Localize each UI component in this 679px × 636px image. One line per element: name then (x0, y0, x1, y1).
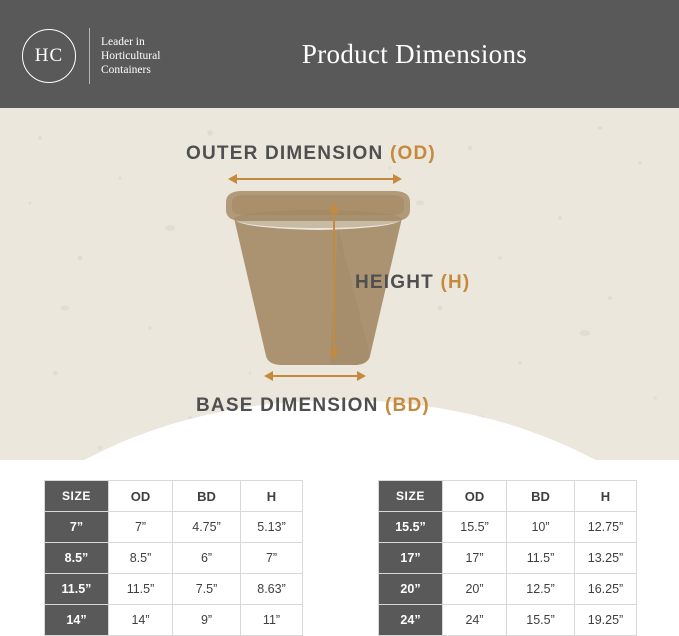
page-title: Product Dimensions (0, 0, 679, 108)
base-dimension-text: BASE DIMENSION (196, 395, 385, 416)
table-header-row: SIZE OD BD H (379, 481, 637, 512)
cell-bd: 9” (173, 605, 241, 636)
cell-bd: 7.5” (173, 574, 241, 605)
height-arrow (333, 211, 335, 351)
cell-bd: 6” (173, 543, 241, 574)
base-dimension-abbrev: (BD) (385, 395, 430, 416)
cell-od: 11.5” (109, 574, 173, 605)
cell-od: 20” (443, 574, 507, 605)
cell-size: 15.5” (379, 512, 443, 543)
col-header-od: OD (109, 481, 173, 512)
outer-dimension-abbrev: (OD) (390, 143, 436, 164)
table-row: 17” 17” 11.5” 13.25” (379, 543, 637, 574)
page-header: HC Leader in Horticultural Containers Pr… (0, 0, 679, 108)
col-header-bd: BD (173, 481, 241, 512)
col-header-h: H (575, 481, 637, 512)
cell-h: 19.25” (575, 605, 637, 636)
table-row: 8.5” 8.5” 6” 7” (45, 543, 303, 574)
dimension-tables: SIZE OD BD H 7” 7” 4.75” 5.13” 8.5” 8.5”… (0, 460, 679, 636)
diagram-panel: OUTER DIMENSION (OD) BASE DIMENSION (BD)… (0, 108, 679, 460)
table-row: 14” 14” 9” 11” (45, 605, 303, 636)
dimension-table-left: SIZE OD BD H 7” 7” 4.75” 5.13” 8.5” 8.5”… (44, 480, 303, 636)
cell-od: 8.5” (109, 543, 173, 574)
table-row: 15.5” 15.5” 10” 12.75” (379, 512, 637, 543)
table-row: 24” 24” 15.5” 19.25” (379, 605, 637, 636)
height-text: HEIGHT (355, 272, 440, 293)
cell-bd: 15.5” (507, 605, 575, 636)
cell-size: 20” (379, 574, 443, 605)
table-row: 20” 20” 12.5” 16.25” (379, 574, 637, 605)
cell-size: 11.5” (45, 574, 109, 605)
outer-dimension-text: OUTER DIMENSION (186, 143, 390, 164)
cell-h: 11” (241, 605, 303, 636)
cell-size: 24” (379, 605, 443, 636)
cell-size: 14” (45, 605, 109, 636)
cell-bd: 4.75” (173, 512, 241, 543)
cell-od: 15.5” (443, 512, 507, 543)
cell-bd: 11.5” (507, 543, 575, 574)
height-label: HEIGHT (H) (355, 272, 470, 294)
cell-h: 8.63” (241, 574, 303, 605)
cell-od: 17” (443, 543, 507, 574)
outer-dimension-label: OUTER DIMENSION (OD) (186, 143, 436, 165)
cell-h: 5.13” (241, 512, 303, 543)
cell-size: 17” (379, 543, 443, 574)
outer-dimension-arrow (236, 178, 394, 180)
cell-h: 16.25” (575, 574, 637, 605)
cell-h: 13.25” (575, 543, 637, 574)
product-dimensions-infographic: HC Leader in Horticultural Containers Pr… (0, 0, 679, 636)
height-abbrev: (H) (440, 272, 470, 293)
cell-od: 24” (443, 605, 507, 636)
col-header-h: H (241, 481, 303, 512)
cell-bd: 12.5” (507, 574, 575, 605)
cell-h: 7” (241, 543, 303, 574)
dimension-table-right: SIZE OD BD H 15.5” 15.5” 10” 12.75” 17” … (378, 480, 637, 636)
col-header-od: OD (443, 481, 507, 512)
col-header-size: SIZE (45, 481, 109, 512)
cell-bd: 10” (507, 512, 575, 543)
table-header-row: SIZE OD BD H (45, 481, 303, 512)
cell-od: 14” (109, 605, 173, 636)
col-header-size: SIZE (379, 481, 443, 512)
table-row: 11.5” 11.5” 7.5” 8.63” (45, 574, 303, 605)
table-row: 7” 7” 4.75” 5.13” (45, 512, 303, 543)
cell-h: 12.75” (575, 512, 637, 543)
base-dimension-arrow (272, 375, 358, 377)
cell-size: 7” (45, 512, 109, 543)
col-header-bd: BD (507, 481, 575, 512)
cell-od: 7” (109, 512, 173, 543)
base-dimension-label: BASE DIMENSION (BD) (196, 395, 430, 417)
cell-size: 8.5” (45, 543, 109, 574)
